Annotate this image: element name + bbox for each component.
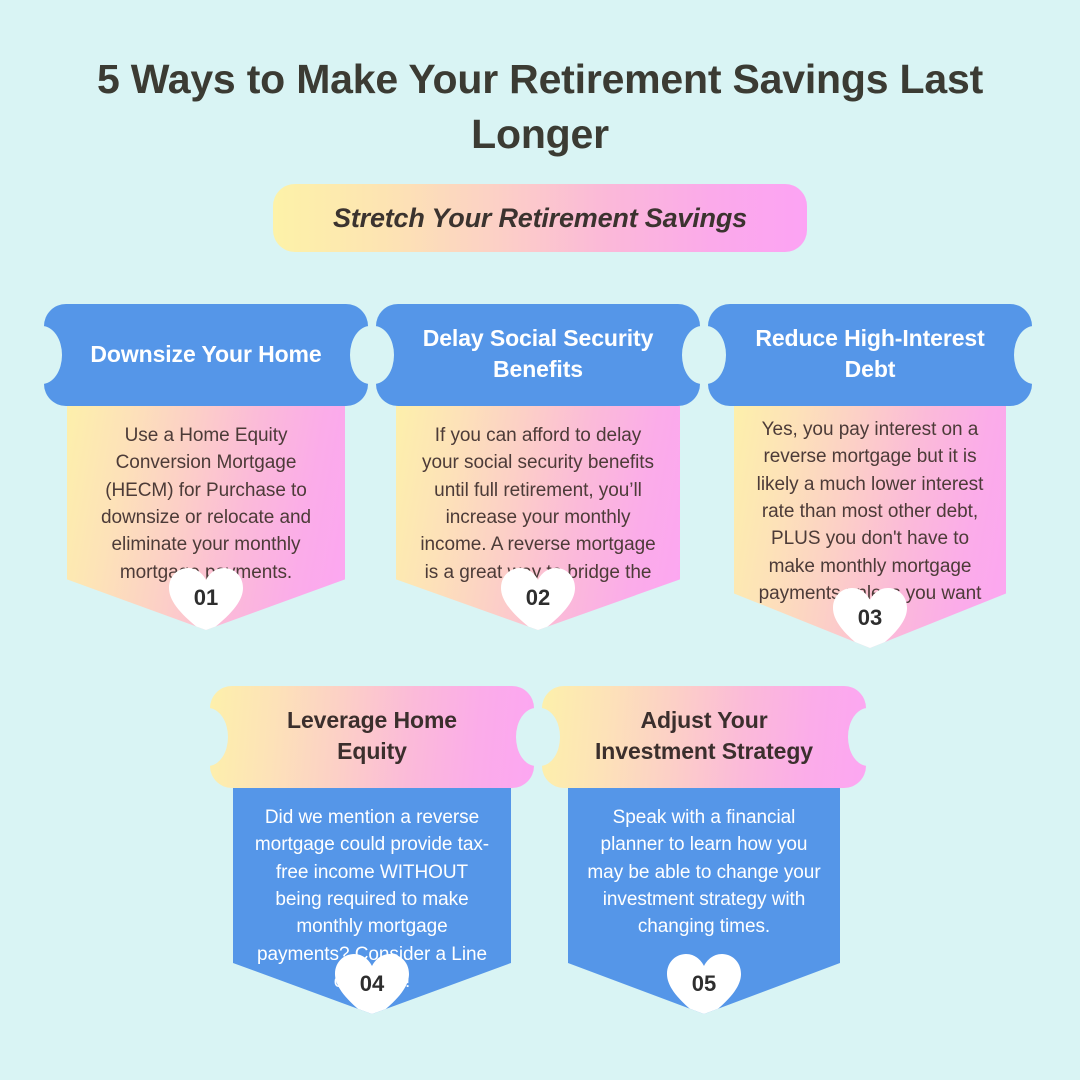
tip-card-4-body: Did we mention a reverse mortgage could … — [233, 782, 511, 1014]
tip-card-2-body: If you can afford to delay your social s… — [396, 400, 680, 630]
tip-card-2[interactable]: Delay Social Security Benefits If you ca… — [376, 304, 700, 630]
tip-card-3[interactable]: Reduce High-Interest Debt Yes, you pay i… — [708, 304, 1032, 648]
tip-card-5-header: Adjust Your Investment Strategy — [542, 686, 866, 788]
tip-card-5-text: Speak with a financial planner to learn … — [586, 804, 822, 941]
tip-card-4-header: Leverage Home Equity — [210, 686, 534, 788]
tip-card-5-number-badge: 05 — [665, 952, 743, 1022]
tip-card-3-header: Reduce High-Interest Debt — [708, 304, 1032, 406]
tip-card-3-number: 03 — [858, 605, 882, 631]
tip-card-3-body: Yes, you pay interest on a reverse mortg… — [734, 400, 1006, 648]
tip-card-1-header: Downsize Your Home — [44, 304, 368, 406]
tip-card-2-heading: Delay Social Security Benefits — [422, 323, 654, 384]
tip-card-5-number: 05 — [692, 971, 716, 997]
tip-card-5[interactable]: Adjust Your Investment Strategy Speak wi… — [542, 686, 866, 1014]
tip-card-3-heading: Reduce High-Interest Debt — [754, 323, 986, 384]
tip-card-1-heading: Downsize Your Home — [90, 339, 321, 370]
tip-card-4-heading: Leverage Home Equity — [256, 705, 488, 766]
tip-card-4-number-badge: 04 — [333, 952, 411, 1022]
tip-card-4-number: 04 — [360, 971, 384, 997]
tip-card-2-header: Delay Social Security Benefits — [376, 304, 700, 406]
tip-card-2-number: 02 — [526, 585, 550, 611]
tip-card-2-number-badge: 02 — [499, 566, 577, 636]
tip-card-5-heading: Adjust Your Investment Strategy — [588, 705, 820, 766]
page-title: 5 Ways to Make Your Retirement Savings L… — [60, 52, 1020, 162]
tip-card-1-number: 01 — [194, 585, 218, 611]
tip-card-4[interactable]: Leverage Home Equity Did we mention a re… — [210, 686, 534, 1014]
tip-card-1-text: Use a Home Equity Conversion Mortgage (H… — [85, 422, 327, 586]
subtitle-badge-label: Stretch Your Retirement Savings — [333, 203, 747, 234]
subtitle-badge: Stretch Your Retirement Savings — [273, 184, 807, 252]
tip-card-3-number-badge: 03 — [831, 586, 909, 656]
tip-card-1-body: Use a Home Equity Conversion Mortgage (H… — [67, 400, 345, 630]
tip-card-1-number-badge: 01 — [167, 566, 245, 636]
tip-card-1[interactable]: Downsize Your Home Use a Home Equity Con… — [44, 304, 368, 630]
infographic-canvas: 5 Ways to Make Your Retirement Savings L… — [0, 0, 1080, 1080]
tip-card-5-body: Speak with a financial planner to learn … — [568, 782, 840, 1014]
